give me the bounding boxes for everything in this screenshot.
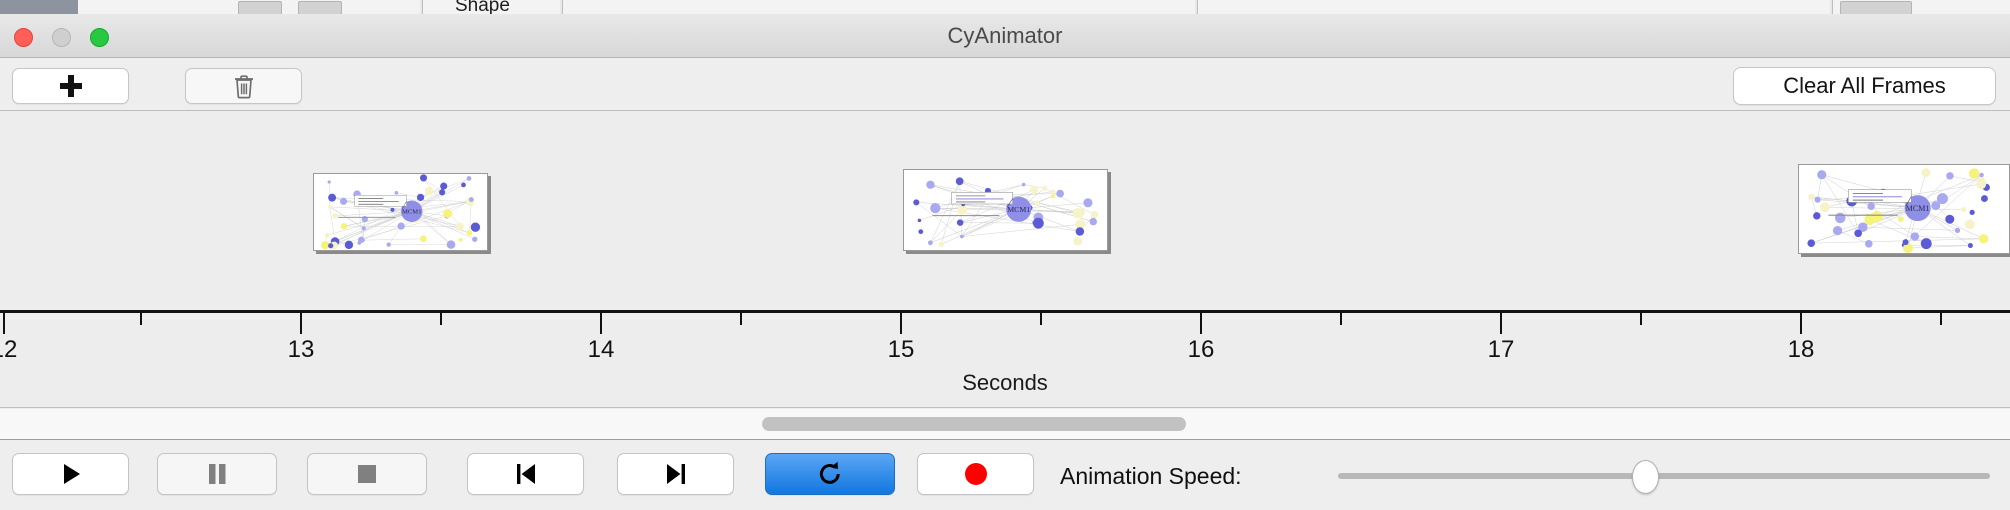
svg-text:MCM1: MCM1 — [402, 209, 422, 216]
loop-icon — [816, 460, 844, 488]
background-tab-1 — [238, 1, 282, 15]
timeline-frame[interactable]: MCM1 — [1798, 164, 2010, 254]
loop-button[interactable] — [765, 453, 895, 495]
axis-tick-minor — [1940, 313, 1942, 325]
toolbar: Clear All Frames — [0, 58, 2010, 111]
add-frame-button[interactable] — [12, 68, 129, 104]
record-button[interactable] — [917, 453, 1034, 495]
slider-track — [1338, 473, 1990, 479]
animation-speed-label: Animation Speed: — [1060, 463, 1242, 490]
svg-text:MCM1: MCM1 — [1007, 205, 1030, 214]
axis-tick-major — [300, 313, 302, 334]
background-tab-3 — [1840, 1, 1912, 15]
axis-title: Seconds — [0, 370, 2010, 396]
delete-frame-button[interactable] — [185, 68, 302, 104]
timeline-frame[interactable]: MCM1 — [313, 173, 488, 251]
stop-button — [307, 453, 427, 495]
axis-tick-label: 13 — [288, 336, 315, 364]
axis-tick-major — [1800, 313, 1802, 334]
axis-tick-minor — [1340, 313, 1342, 325]
axis-tick-label: 12 — [0, 336, 17, 364]
clear-all-frames-label: Clear All Frames — [1783, 73, 1946, 99]
axis-tick-minor — [1640, 313, 1642, 325]
background-toolbar-dark-segment — [0, 0, 78, 14]
background-divider-4 — [1830, 0, 1833, 14]
timeline-frame[interactable]: MCM1 — [903, 169, 1108, 251]
plus-icon — [60, 75, 82, 97]
axis-tick-label: 15 — [888, 336, 915, 364]
skip-next-icon — [663, 462, 689, 486]
cyanimator-window: Shape CyAnimator Clear All Frames — [0, 0, 2010, 510]
axis-tick-label: 17 — [1488, 336, 1515, 364]
axis-tick-minor — [440, 313, 442, 325]
pause-button — [157, 453, 277, 495]
play-button[interactable] — [12, 453, 129, 495]
timeline-axis: Seconds 12131415161718 — [0, 310, 2010, 408]
scrollbar-thumb[interactable] — [762, 417, 1186, 431]
pause-icon — [205, 461, 229, 487]
axis-tick-major — [600, 313, 602, 334]
playback-controls: Animation Speed: — [0, 441, 2010, 510]
axis-tick-label: 16 — [1188, 336, 1215, 364]
background-window-strip: Shape — [0, 0, 2010, 15]
axis-tick-minor — [740, 313, 742, 325]
title-bar: CyAnimator — [0, 14, 2010, 58]
axis-tick-major — [900, 313, 902, 334]
background-divider-3 — [1195, 0, 1198, 14]
background-divider-2 — [560, 0, 563, 14]
window-title: CyAnimator — [0, 14, 2010, 58]
background-window-label: Shape — [455, 0, 510, 15]
trash-icon — [233, 74, 255, 99]
axis-tick-minor — [1040, 313, 1042, 325]
axis-tick-label: 14 — [588, 336, 615, 364]
svg-text:MCM1: MCM1 — [1906, 204, 1930, 213]
axis-tick-minor — [140, 313, 142, 325]
skip-previous-button[interactable] — [467, 453, 584, 495]
axis-tick-major — [1200, 313, 1202, 334]
axis-tick-major — [1500, 313, 1502, 334]
slider-thumb[interactable] — [1632, 460, 1659, 494]
record-icon — [963, 461, 989, 487]
background-tab-2 — [298, 1, 342, 15]
stop-icon — [355, 462, 379, 486]
background-divider-1 — [420, 0, 423, 14]
clear-all-frames-button[interactable]: Clear All Frames — [1733, 67, 1996, 105]
axis-tick-label: 18 — [1788, 336, 1815, 364]
skip-next-button[interactable] — [617, 453, 734, 495]
horizontal-scrollbar[interactable] — [0, 409, 2010, 440]
animation-speed-slider[interactable] — [1338, 473, 1990, 479]
play-icon — [58, 461, 84, 487]
skip-previous-icon — [513, 462, 539, 486]
axis-tick-major — [3, 313, 5, 334]
